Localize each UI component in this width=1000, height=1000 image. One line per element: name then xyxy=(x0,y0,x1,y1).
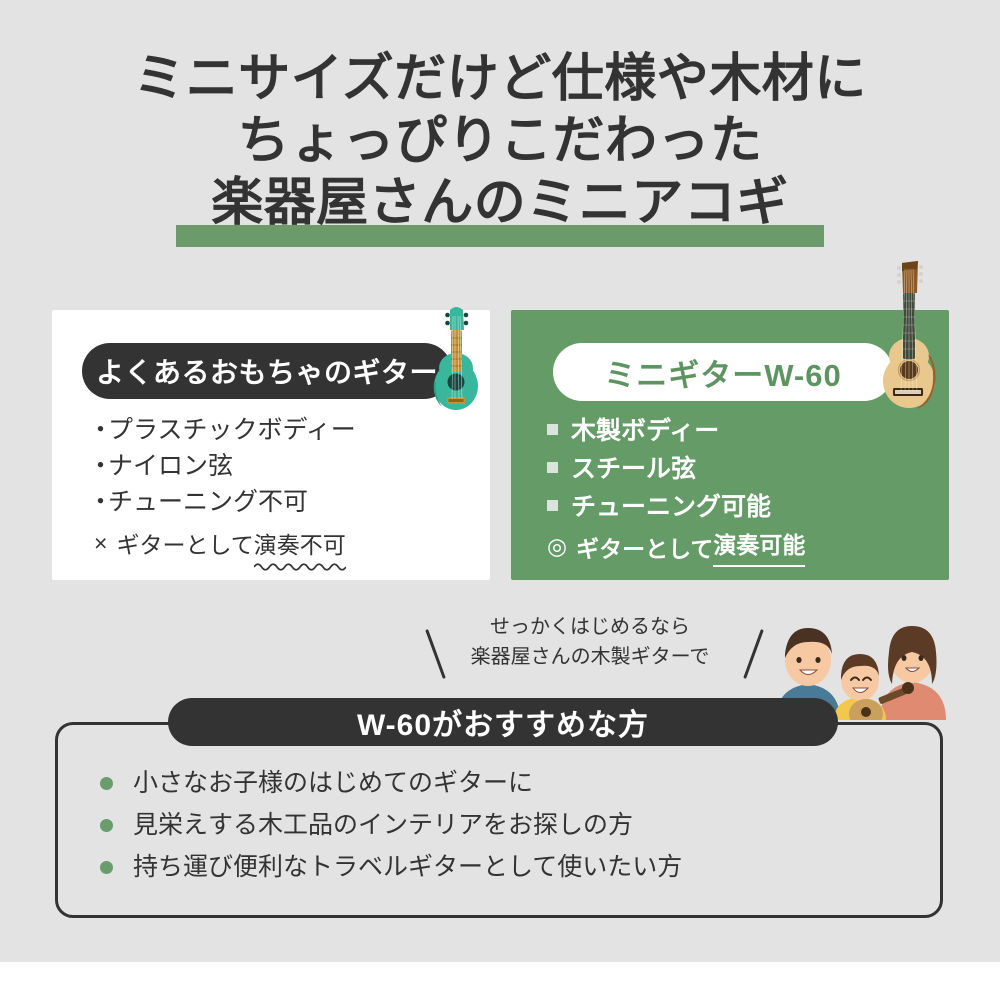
square-bullet-icon xyxy=(547,500,558,511)
dot-bullet-icon: ・ xyxy=(88,412,108,448)
round-bullet-icon xyxy=(100,819,113,832)
list-item-label: プラスチックボディー xyxy=(108,412,356,448)
page-title: ミニサイズだけど仕様や木材に ちょっぴりこだわった 楽器屋さんのミニアコギ xyxy=(0,48,1000,234)
headline-line-1: ミニサイズだけど仕様や木材に xyxy=(0,48,1000,110)
list-item-label: チューニング不可 xyxy=(108,484,308,520)
list-item: 木製ボディー xyxy=(547,412,927,450)
w60-feature-list: 木製ボディー スチール弦 チューニング可能 xyxy=(547,412,927,526)
list-item-label: スチール弦 xyxy=(571,450,696,488)
headline-line-2: ちょっぴりこだわった xyxy=(0,110,1000,172)
list-item: 持ち運び便利なトラベルギターとして使いたい方 xyxy=(100,846,920,888)
toy-verdict: × ギターとして 演奏不可 xyxy=(94,526,346,560)
list-item: ・ ナイロン弦 xyxy=(88,448,468,484)
list-item: 小さなお子様のはじめてのギターに xyxy=(100,762,920,804)
w60-verdict-prefix: ギターとして xyxy=(576,530,713,564)
list-item-label: ナイロン弦 xyxy=(108,448,233,484)
square-bullet-icon xyxy=(547,424,558,435)
toy-guitar-card: よくあるおもちゃのギター ・ プラスチックボディー ・ ナイロン弦 ・ チューニ… xyxy=(52,310,490,580)
list-item: スチール弦 xyxy=(547,450,927,488)
middle-callout-line-1: せっかくはじめるなら xyxy=(420,612,760,642)
recommend-list: 小さなお子様のはじめてのギターに 見栄えする木工品のインテリアをお探しの方 持ち… xyxy=(100,762,920,888)
toy-verdict-emphasis-wrap: 演奏不可 xyxy=(254,526,346,560)
wavy-underline-icon xyxy=(254,561,346,571)
w60-card-title-pill: ミニギターW-60 xyxy=(553,343,893,401)
ukulele-illustration-icon xyxy=(428,302,490,414)
promo-canvas: ミニサイズだけど仕様や木材に ちょっぴりこだわった 楽器屋さんのミニアコギ よく… xyxy=(0,0,1000,1000)
list-item: チューニング可能 xyxy=(547,488,927,526)
w60-verdict: ◎ ギターとして 演奏可能 xyxy=(547,526,805,567)
list-item-label: 小さなお子様のはじめてのギターに xyxy=(133,762,533,804)
bottom-white-strip xyxy=(0,962,1000,1000)
list-item-label: 持ち運び便利なトラベルギターとして使いたい方 xyxy=(133,846,682,888)
toy-verdict-prefix: ギターとして xyxy=(116,526,253,560)
cross-mark-icon: × xyxy=(94,530,107,557)
dot-bullet-icon: ・ xyxy=(88,484,108,520)
toy-verdict-emphasis: 演奏不可 xyxy=(254,532,346,558)
double-circle-mark-icon: ◎ xyxy=(547,533,567,560)
toy-feature-list: ・ プラスチックボディー ・ ナイロン弦 ・ チューニング不可 xyxy=(88,412,468,520)
dot-bullet-icon: ・ xyxy=(88,448,108,484)
list-item: ・ プラスチックボディー xyxy=(88,412,468,448)
round-bullet-icon xyxy=(100,861,113,874)
list-item-label: チューニング可能 xyxy=(571,488,771,526)
list-item: 見栄えする木工品のインテリアをお探しの方 xyxy=(100,804,920,846)
middle-callout: せっかくはじめるなら 楽器屋さんの木製ギターで xyxy=(420,612,760,672)
list-item-label: 木製ボディー xyxy=(571,412,719,450)
middle-callout-line-2: 楽器屋さんの木製ギターで xyxy=(420,642,760,672)
recommend-title-pill: W-60がおすすめな方 xyxy=(168,698,838,746)
headline-line-3: 楽器屋さんのミニアコギ xyxy=(0,172,1000,234)
round-bullet-icon xyxy=(100,777,113,790)
acoustic-guitar-illustration-icon xyxy=(876,253,950,413)
toy-card-title-pill: よくあるおもちゃのギター xyxy=(82,343,452,399)
list-item-label: 見栄えする木工品のインテリアをお探しの方 xyxy=(133,804,633,846)
w60-verdict-emphasis: 演奏可能 xyxy=(713,526,805,567)
list-item: ・ チューニング不可 xyxy=(88,484,468,520)
square-bullet-icon xyxy=(547,462,558,473)
